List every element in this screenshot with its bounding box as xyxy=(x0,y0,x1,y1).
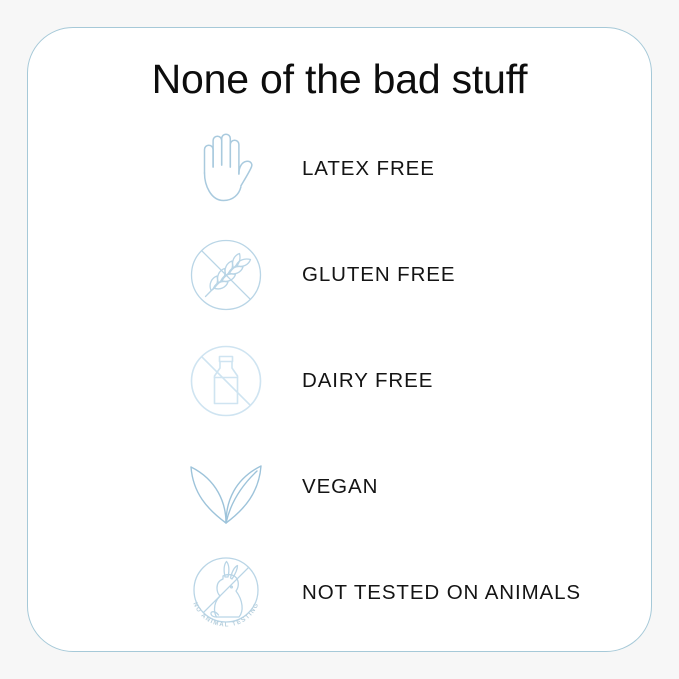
list-item-label: VEGAN xyxy=(302,475,378,499)
ring-text-label: NO ANIMAL TESTING xyxy=(191,601,260,628)
card-inner: None of the bad stuff LATEX FREE xyxy=(28,28,651,651)
list-item: LATEX FREE xyxy=(28,116,651,222)
no-animal-testing-rabbit-icon: NO ANIMAL TESTING xyxy=(178,550,274,636)
list-item-label: NOT TESTED ON ANIMALS xyxy=(302,581,581,605)
list-item-label: GLUTEN FREE xyxy=(302,263,455,287)
list-item: VEGAN xyxy=(28,434,651,540)
list-item-label: DAIRY FREE xyxy=(302,369,433,393)
no-wheat-icon xyxy=(178,238,274,312)
list-item-label: LATEX FREE xyxy=(302,157,435,181)
product-claims-card: None of the bad stuff LATEX FREE xyxy=(27,27,652,652)
list-item: NO ANIMAL TESTING NOT TESTED ON ANIMALS xyxy=(28,540,651,646)
list-item: DAIRY FREE xyxy=(28,328,651,434)
claims-list: LATEX FREE xyxy=(28,116,651,646)
page-title: None of the bad stuff xyxy=(28,56,651,103)
no-milk-bottle-icon xyxy=(178,344,274,418)
hand-icon xyxy=(178,127,274,211)
leaves-icon xyxy=(178,447,274,527)
list-item: GLUTEN FREE xyxy=(28,222,651,328)
